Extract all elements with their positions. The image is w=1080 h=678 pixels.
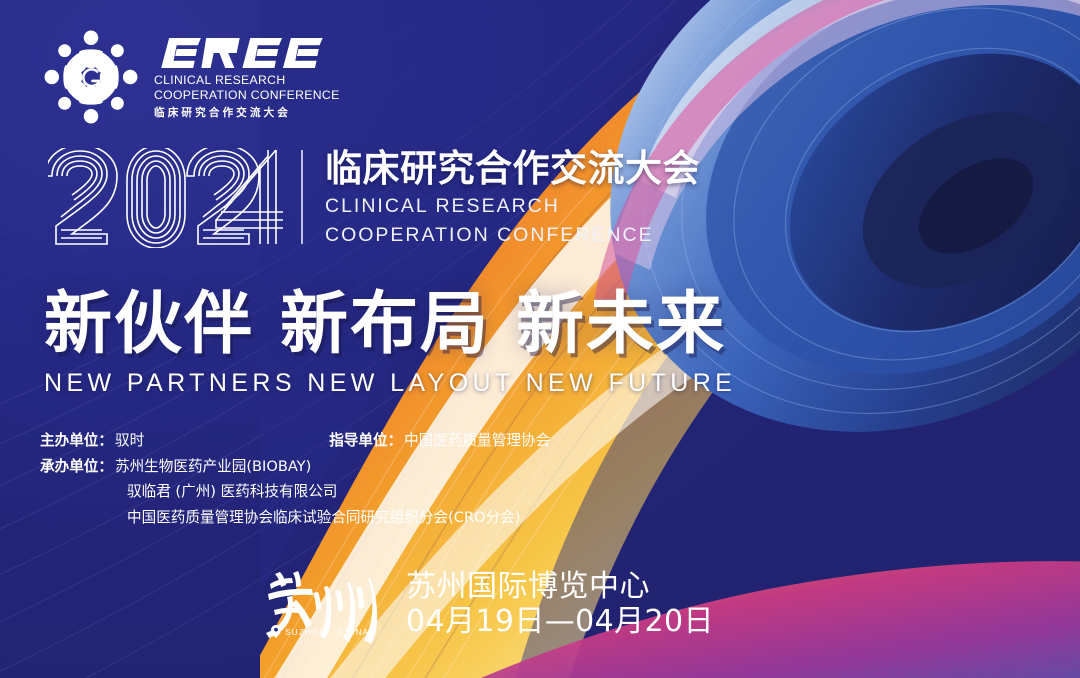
credit-guide-label: 指导单位： [329,428,402,454]
year-digit-0-a [127,148,185,248]
title-vertical-divider [301,150,303,244]
credit-organizer-value-2: 驭临君 (广州) 医药科技有限公司 [127,479,337,505]
crcc-english-line-2: COOPERATION CONFERENCE [154,88,340,103]
credit-guide: 指导单位： 中国医药质量管理协会 [329,428,550,454]
emblem-g-monogram [83,69,99,86]
venue-block: SUZHOU · CHINA 苏州国际博览中心 04月19日—04月20日 [262,566,714,644]
conference-title-en-line-1: CLINICAL RESEARCH [325,194,700,218]
credit-organizer-line-3: 中国医药质量管理协会临床试验合同研究组织分会(CRO分会) [40,505,550,531]
credit-organizer-value-3: 中国医药质量管理协会临床试验合同研究组织分会(CRO分会) [127,505,520,531]
crcc-chinese-line: 临床研究合作交流大会 [154,105,340,120]
venue-text-group: 苏州国际博览中心 04月19日—04月20日 [406,569,714,641]
suzhou-calligraphy-logo-icon: SUZHOU · CHINA [262,566,392,644]
year-and-title-row: 临床研究合作交流大会 CLINICAL RESEARCH COOPERATION… [48,148,700,248]
crcc-logo-block: CLINICAL RESEARCH COOPERATION CONFERENCE… [42,28,340,126]
venue-date: 04月19日—04月20日 [406,604,714,639]
year-digit-2-a [48,148,117,244]
crcc-wordmark-icon [154,38,340,68]
credit-guide-value: 中国医药质量管理协会 [404,428,550,454]
credit-organizer: 承办单位： 苏州生物医药产业园(BIOBAY) [40,454,550,480]
venue-place: 苏州国际博览中心 [406,569,714,604]
slogan-part-2: 新布局 [280,285,490,364]
slogan-block: 新伙伴新布局新未来 NEW PARTNERS NEW LAYOUT NEW FU… [44,288,736,397]
credit-organizer-value-1: 苏州生物医药产业园(BIOBAY) [115,454,311,480]
credit-row-host-guide: 主办单位： 驭时 指导单位： 中国医药质量管理协会 [40,428,550,454]
crcc-circular-people-g-emblem-icon [42,28,140,126]
credit-organizer-line-2: 驭临君 (广州) 医药科技有限公司 [40,479,550,505]
credit-host: 主办单位： 驭时 [40,428,144,454]
swirl-blue-vortex [518,0,1080,532]
suzhou-pin-and-label: SUZHOU · CHINA [271,625,369,638]
title-text-group: 临床研究合作交流大会 CLINICAL RESEARCH COOPERATION… [325,148,700,247]
slogan-english: NEW PARTNERS NEW LAYOUT NEW FUTURE [44,369,736,397]
conference-poster: CLINICAL RESEARCH COOPERATION CONFERENCE… [0,0,1080,678]
organizer-credits-block: 主办单位： 驭时 指导单位： 中国医药质量管理协会 承办单位： 苏州生物医药产业… [40,428,550,530]
credit-organizer-label: 承办单位： [40,454,113,480]
slogan-part-1: 新伙伴 [44,285,254,364]
conference-title-en-line-2: COOPERATION CONFERENCE [325,223,700,247]
crcc-english-line-1: CLINICAL RESEARCH [154,73,340,88]
crcc-logo-text: CLINICAL RESEARCH COOPERATION CONFERENCE… [154,34,340,120]
credit-host-value: 驭时 [115,428,144,454]
credit-host-label: 主办单位： [40,428,113,454]
conference-title-cn: 临床研究合作交流大会 [325,148,700,189]
year-digit-2-b [187,148,259,244]
year-2024-outline-graphic [48,148,283,248]
slogan-part-3: 新未来 [516,285,726,364]
swirl-vortex-rim-glow [640,0,1080,198]
slogan-chinese: 新伙伴新布局新未来 [44,288,736,362]
suzhou-china-label: SUZHOU · CHINA [285,627,369,637]
